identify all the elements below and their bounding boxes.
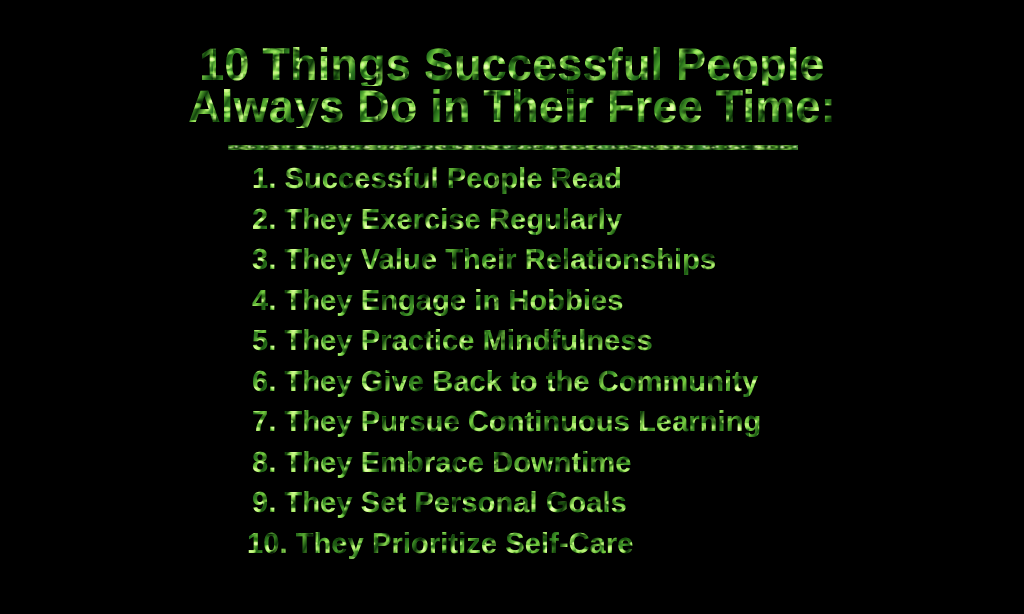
list-item: 3. They Value Their Relationships — [252, 244, 952, 285]
title-divider-rule — [228, 145, 798, 150]
list-item: 6. They Give Back to the Community — [252, 366, 952, 407]
list-item-text: 9. They Set Personal Goals — [252, 487, 627, 519]
list-item: 1. Successful People Read — [252, 163, 952, 204]
list-item: 9. They Set Personal Goals — [252, 487, 952, 528]
list-item-text: 7. They Pursue Continuous Learning — [252, 406, 761, 438]
list-item-text: 5. They Practice Mindfulness — [252, 325, 653, 357]
page-title-line-1: 10 Things Successful People — [0, 44, 1024, 86]
page-title: 10 Things Successful People Always Do in… — [0, 44, 1024, 128]
list-item-text: 8. They Embrace Downtime — [252, 447, 632, 479]
list-item-text: 4. They Engage in Hobbies — [252, 285, 624, 317]
list-item-text: 1. Successful People Read — [252, 163, 622, 195]
list-item: 7. They Pursue Continuous Learning — [252, 406, 952, 447]
list-item: 4. They Engage in Hobbies — [252, 285, 952, 326]
list-item-text: 2. They Exercise Regularly — [252, 204, 622, 236]
list-item: 5. They Practice Mindfulness — [252, 325, 952, 366]
list-item-text: 3. They Value Their Relationships — [252, 244, 716, 276]
list-item-text: 6. They Give Back to the Community — [252, 366, 758, 398]
list-item: 2. They Exercise Regularly — [252, 204, 952, 245]
tips-list: 1. Successful People Read 2. They Exerci… — [252, 163, 952, 568]
list-item: 8. They Embrace Downtime — [252, 447, 952, 488]
page-title-line-2: Always Do in Their Free Time: — [0, 86, 1024, 128]
list-item-text: 10. They Prioritize Self-Care — [247, 528, 633, 560]
poster-canvas: 10 Things Successful People Always Do in… — [0, 0, 1024, 614]
list-item: 10. They Prioritize Self-Care — [252, 528, 952, 569]
